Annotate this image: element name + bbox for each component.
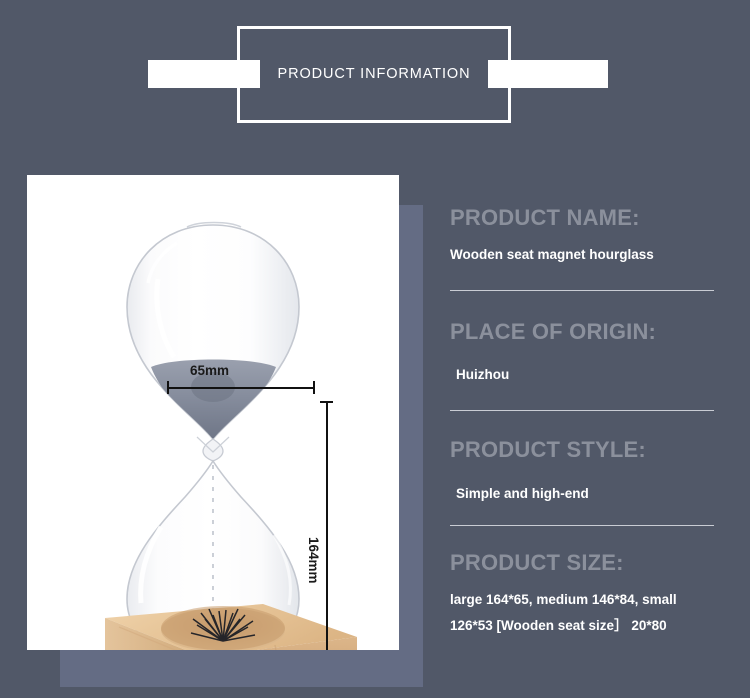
info-value-product-size-line-2: 126*53 [Wooden seat size］ 20*80	[450, 616, 718, 637]
hourglass-neck	[197, 437, 229, 461]
info-block-place-of-origin: PLACE OF ORIGIN: Huizhou	[450, 319, 718, 410]
info-divider-1	[450, 290, 714, 291]
product-photo: 65mm 164mm 20MM 80MM	[27, 175, 399, 650]
dimension-line-total-height	[326, 401, 328, 650]
hourglass-top-bulb	[127, 223, 299, 442]
dimension-label-total-height: 164mm	[306, 537, 321, 584]
info-heading-product-style: PRODUCT STYLE:	[450, 437, 718, 463]
product-info-panel: PRODUCT NAME: Wooden seat magnet hourgla…	[450, 205, 718, 637]
info-divider-3	[450, 525, 714, 526]
info-block-product-name: PRODUCT NAME: Wooden seat magnet hourgla…	[450, 205, 718, 291]
dimension-cap-top-left	[167, 381, 169, 394]
info-value-place-of-origin: Huizhou	[450, 365, 718, 386]
info-block-product-style: PRODUCT STYLE: Simple and high-end	[450, 437, 718, 526]
info-block-product-size: PRODUCT SIZE: large 164*65, medium 146*8…	[450, 550, 718, 637]
magnetic-filings	[191, 609, 255, 641]
dimension-cap-height-top	[320, 401, 333, 403]
hourglass-illustration	[27, 175, 399, 650]
page-title: PRODUCT INFORMATION	[237, 60, 511, 88]
info-heading-product-size: PRODUCT SIZE:	[450, 550, 718, 576]
info-value-product-size-line-1: large 164*65, medium 146*84, small	[450, 590, 718, 611]
info-heading-place-of-origin: PLACE OF ORIGIN:	[450, 319, 718, 345]
dimension-cap-top-right	[313, 381, 315, 394]
dimension-line-top-width	[167, 387, 315, 389]
hourglass-bottom-bulb	[127, 461, 299, 650]
info-value-product-style: Simple and high-end	[450, 484, 718, 505]
wooden-base	[105, 604, 357, 650]
info-value-product-name: Wooden seat magnet hourglass	[450, 245, 718, 266]
header-banner: PRODUCT INFORMATION	[0, 0, 750, 150]
info-divider-2	[450, 410, 714, 411]
dimension-label-top-width: 65mm	[190, 363, 229, 378]
info-heading-product-name: PRODUCT NAME:	[450, 205, 718, 231]
